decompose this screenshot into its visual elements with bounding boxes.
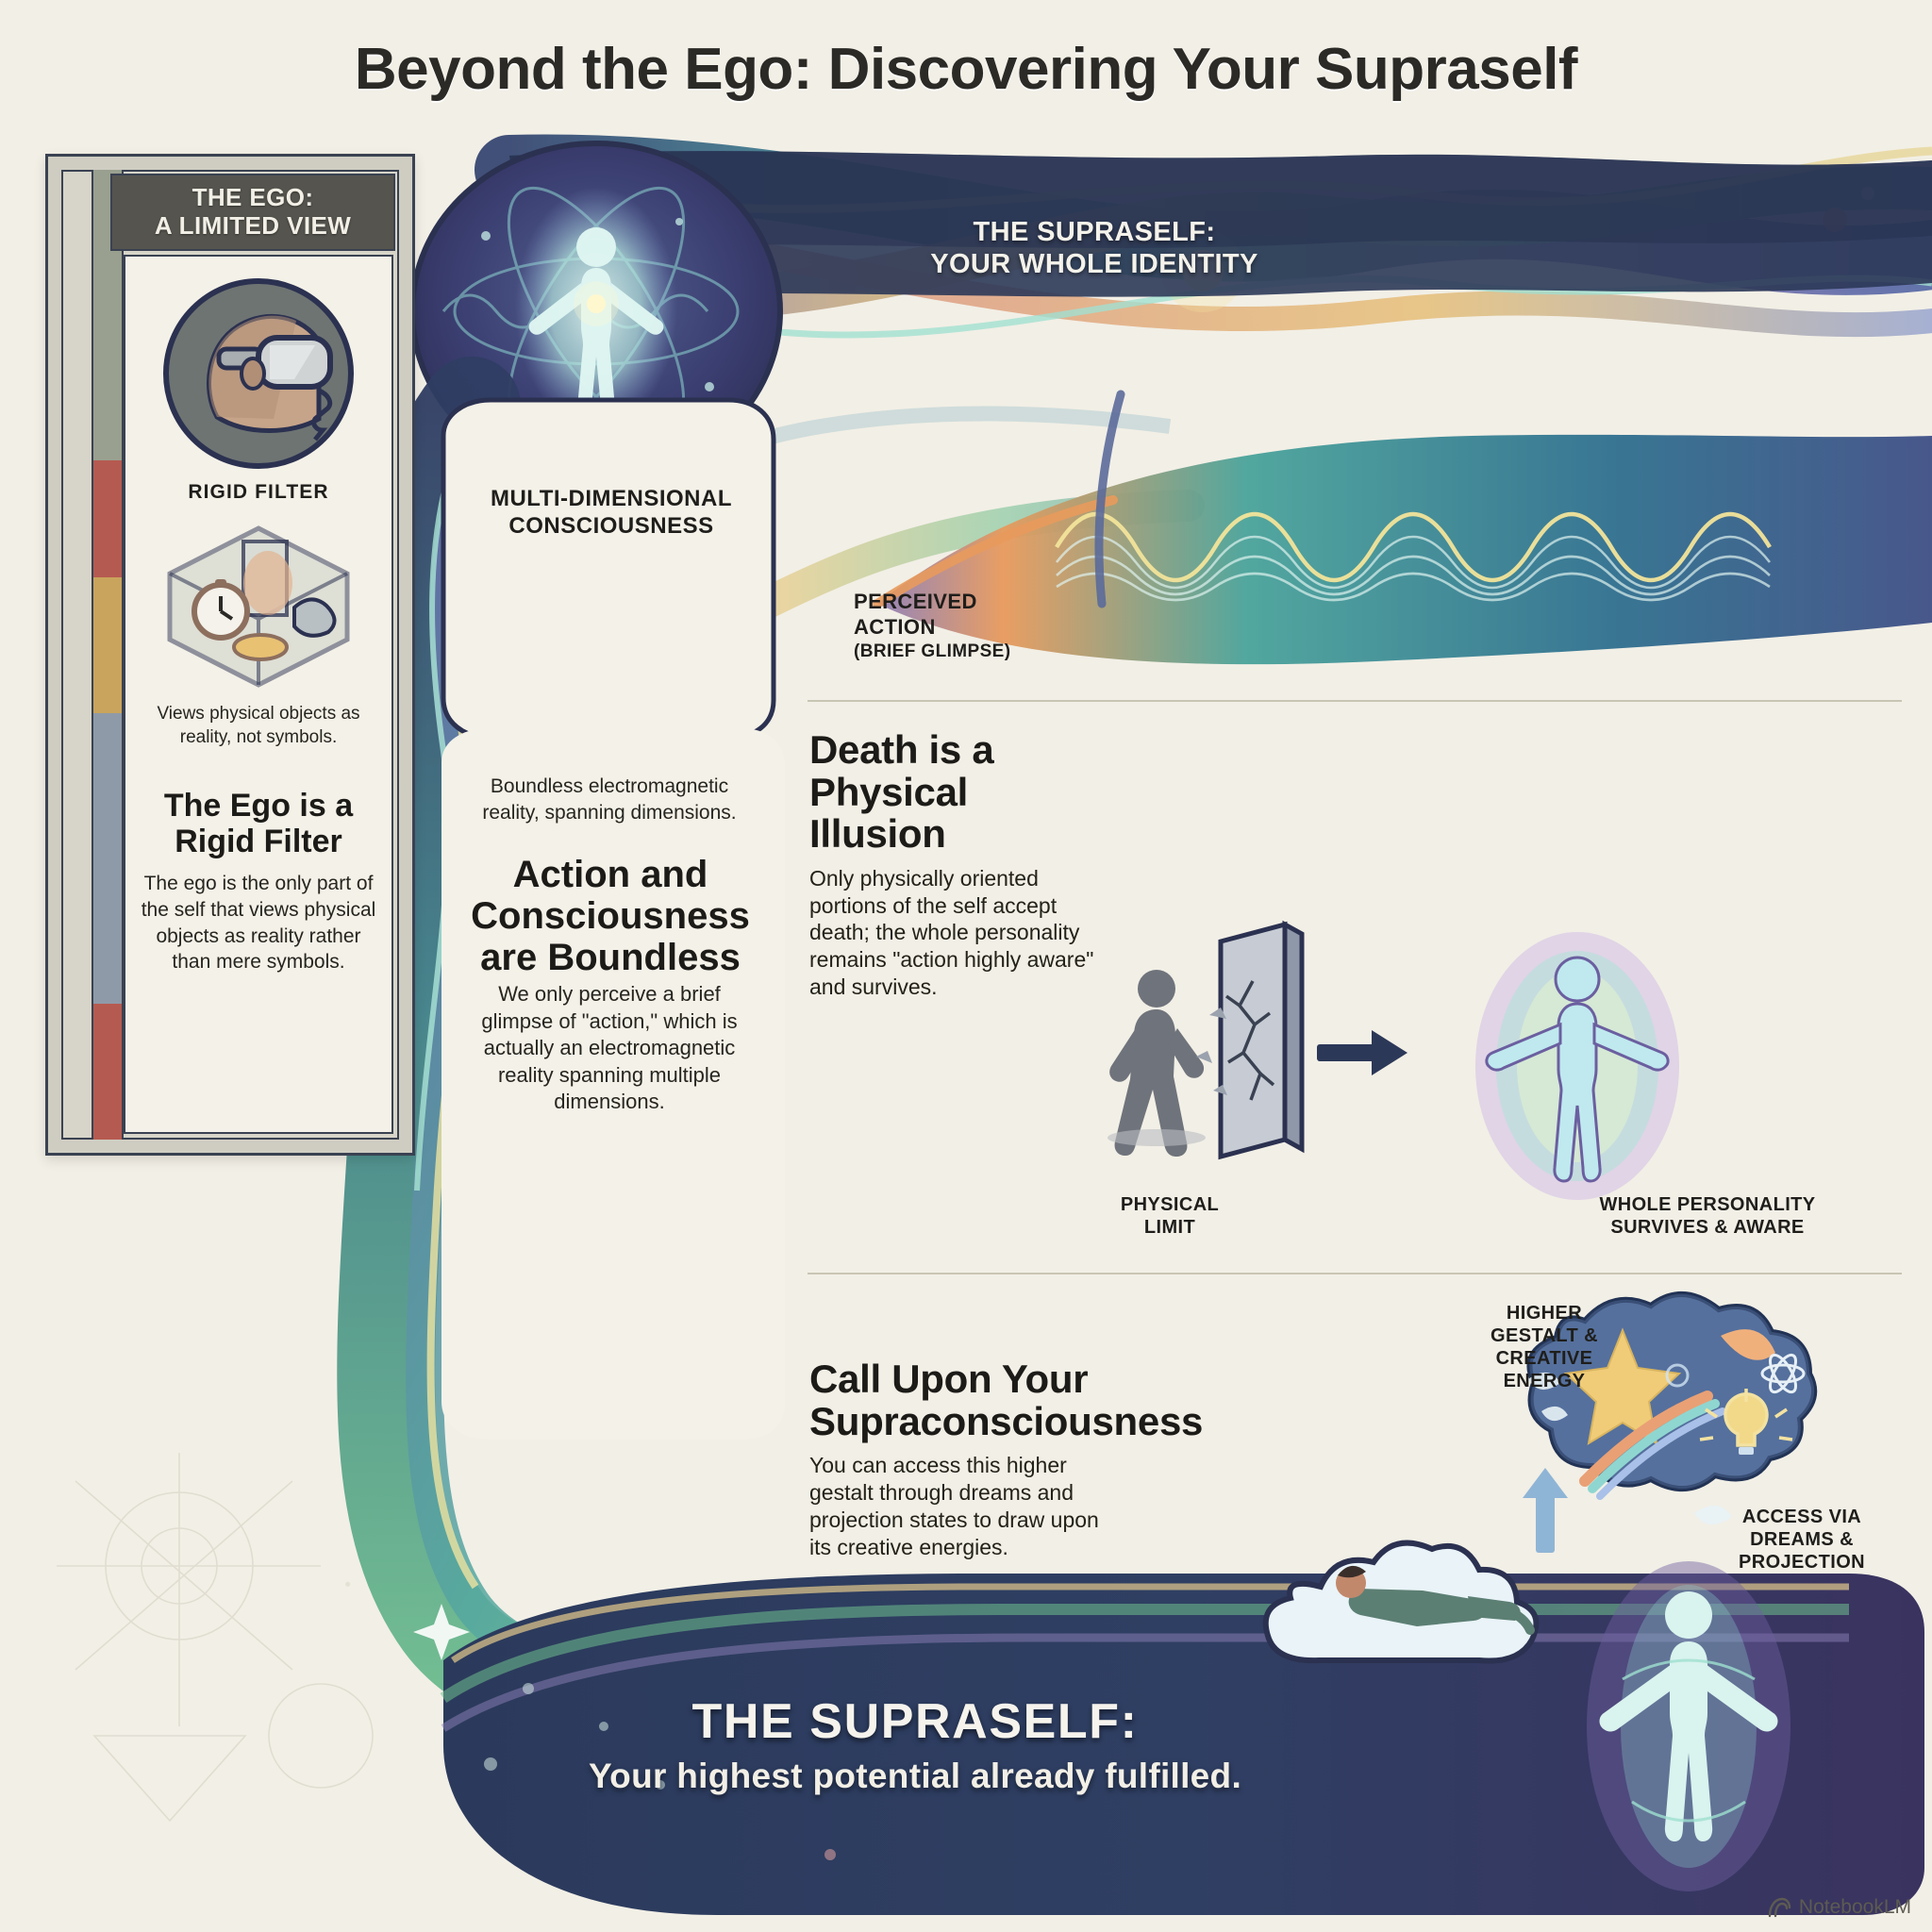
physical-limit-line2: LIMIT bbox=[1085, 1216, 1255, 1239]
ego-caption: RIGID FILTER bbox=[188, 481, 328, 504]
ego-panel-body: RIGID FILTER Views physical objects as r… bbox=[124, 255, 393, 1134]
physical-limit-line1: PHYSICAL bbox=[1085, 1193, 1255, 1216]
access-via-line1: ACCESS VIA bbox=[1689, 1506, 1915, 1528]
divider-bottom bbox=[808, 1273, 1902, 1274]
whole-personality-line2: SURVIVES & AWARE bbox=[1519, 1216, 1896, 1239]
supracons-body-text: You can access this higher gestalt throu… bbox=[809, 1452, 1111, 1561]
objects-in-cube-icon bbox=[162, 521, 355, 691]
higher-gestalt-label: HIGHER GESTALT & CREATIVE ENERGY bbox=[1464, 1302, 1624, 1392]
center-heading-line2: Consciousness bbox=[464, 895, 757, 937]
mdc-line2: CONSCIOUSNESS bbox=[470, 513, 753, 541]
center-body-text: We only perceive a brief glimpse of "act… bbox=[468, 981, 751, 1116]
death-body-text: Only physically oriented portions of the… bbox=[809, 865, 1102, 1002]
ego-header-line2: A LIMITED VIEW bbox=[155, 212, 351, 241]
whole-personality-label: WHOLE PERSONALITY SURVIVES & AWARE bbox=[1519, 1193, 1896, 1239]
perceived-line1: PERCEIVED bbox=[854, 590, 1137, 615]
infographic-canvas: Beyond the Ego: Discovering Your Suprase… bbox=[0, 0, 1932, 1932]
death-heading: Death is a Physical Illusion bbox=[809, 729, 1102, 856]
death-heading-line2: Physical Illusion bbox=[809, 772, 1102, 856]
supraself-header-line2: YOUR WHOLE IDENTITY bbox=[830, 249, 1358, 281]
ego-heading: The Ego is a Rigid Filter bbox=[164, 788, 353, 859]
center-heading: Action and Consciousness are Boundless bbox=[464, 854, 757, 978]
ego-subcaption: Views physical objects as reality, not s… bbox=[139, 702, 378, 750]
whole-personality-line1: WHOLE PERSONALITY bbox=[1519, 1193, 1896, 1216]
higher-gestalt-line4: ENERGY bbox=[1464, 1370, 1624, 1392]
physical-limit-label: PHYSICAL LIMIT bbox=[1085, 1193, 1255, 1239]
higher-gestalt-line2: GESTALT & bbox=[1464, 1324, 1624, 1347]
banner-subtitle: Your highest potential already fulfilled… bbox=[396, 1757, 1434, 1796]
higher-gestalt-line3: CREATIVE bbox=[1464, 1347, 1624, 1370]
supracons-heading-line2: Supraconsciousness bbox=[809, 1401, 1111, 1443]
higher-gestalt-line1: HIGHER bbox=[1464, 1302, 1624, 1324]
death-heading-line1: Death is a bbox=[809, 729, 1102, 772]
notebooklm-logo-icon bbox=[1767, 1897, 1791, 1918]
page-title: Beyond the Ego: Discovering Your Suprase… bbox=[0, 36, 1932, 103]
ego-heading-line1: The Ego is a bbox=[164, 788, 353, 824]
ego-heading-line2: Rigid Filter bbox=[164, 824, 353, 859]
supraself-header: THE SUPRASELF: YOUR WHOLE IDENTITY bbox=[830, 217, 1358, 280]
ego-body-text: The ego is the only part of the self tha… bbox=[139, 871, 378, 975]
death-section: Death is a Physical Illusion Only physic… bbox=[809, 729, 1102, 1001]
divider-top bbox=[808, 700, 1902, 702]
access-via-line2: DREAMS & bbox=[1689, 1528, 1915, 1551]
supraself-header-line1: THE SUPRASELF: bbox=[830, 217, 1358, 249]
access-via-line3: PROJECTION bbox=[1689, 1551, 1915, 1574]
ego-panel: THE EGO: A LIMITED VIEW RIGID FILTER bbox=[45, 154, 415, 1156]
mdc-line1: MULTI-DIMENSIONAL bbox=[470, 486, 753, 513]
vr-headset-head-icon bbox=[160, 275, 357, 472]
perceived-line2: ACTION bbox=[854, 615, 1137, 641]
notebooklm-watermark: NotebookLM bbox=[1767, 1896, 1911, 1919]
supraconsciousness-section: Call Upon Your Supraconsciousness You ca… bbox=[809, 1358, 1111, 1561]
notebooklm-label: NotebookLM bbox=[1799, 1896, 1911, 1919]
center-heading-line1: Action and bbox=[464, 854, 757, 895]
ego-header-line1: THE EGO: bbox=[192, 184, 314, 212]
perceived-line3: (BRIEF GLIMPSE) bbox=[854, 641, 1137, 662]
ego-color-stripes bbox=[92, 170, 124, 1140]
center-subcaption: Boundless electromagnetic reality, spann… bbox=[470, 774, 749, 825]
supracons-heading: Call Upon Your Supraconsciousness bbox=[809, 1358, 1111, 1442]
perceived-action-label: PERCEIVED ACTION (BRIEF GLIMPSE) bbox=[854, 590, 1137, 662]
center-heading-line3: are Boundless bbox=[464, 937, 757, 978]
access-via-label: ACCESS VIA DREAMS & PROJECTION bbox=[1689, 1506, 1915, 1574]
ego-panel-header: THE EGO: A LIMITED VIEW bbox=[110, 174, 395, 251]
multidimensional-consciousness-label: MULTI-DIMENSIONAL CONSCIOUSNESS bbox=[470, 486, 753, 541]
banner-title: THE SUPRASELF: bbox=[396, 1693, 1434, 1750]
supracons-heading-line1: Call Upon Your bbox=[809, 1358, 1111, 1401]
